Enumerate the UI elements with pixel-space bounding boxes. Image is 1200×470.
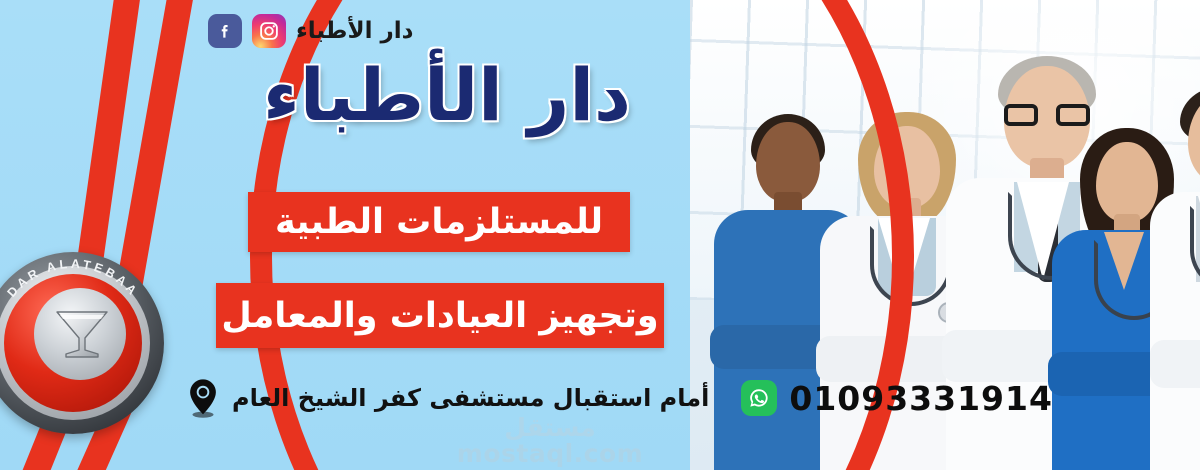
logo-arc-text-label: DAR ALATEBAA	[5, 257, 142, 300]
address-label: أمام استقبال مستشفى كفر الشيخ العام	[232, 384, 709, 412]
company-logo: DAR ALATEBAA	[0, 252, 164, 434]
facebook-icon[interactable]	[208, 14, 242, 48]
header-row: دار الأطباء	[208, 14, 415, 48]
tagline-banner-2: وتجهيز العيادات والمعامل	[216, 283, 664, 348]
promotional-banner: DAR ALATEBAA دار الأطباء دار الأطباء للم…	[0, 0, 1200, 470]
page-title: دار الأطباء	[232, 56, 662, 135]
logo-arc-text: DAR ALATEBAA	[0, 252, 164, 434]
doctor-male-young-coat	[1150, 50, 1200, 470]
whatsapp-icon[interactable]	[741, 380, 777, 416]
head	[1096, 142, 1158, 222]
instagram-icon[interactable]	[252, 14, 286, 48]
arms	[1150, 340, 1200, 388]
contact-row: أمام استقبال مستشفى كفر الشيخ العام 0109…	[186, 378, 1053, 418]
header-brand-label: دار الأطباء	[296, 18, 413, 44]
phone-number[interactable]: 01093331914	[789, 379, 1053, 418]
location-pin-icon	[186, 378, 220, 418]
tagline-banner-1: للمستلزمات الطبية	[248, 192, 630, 252]
